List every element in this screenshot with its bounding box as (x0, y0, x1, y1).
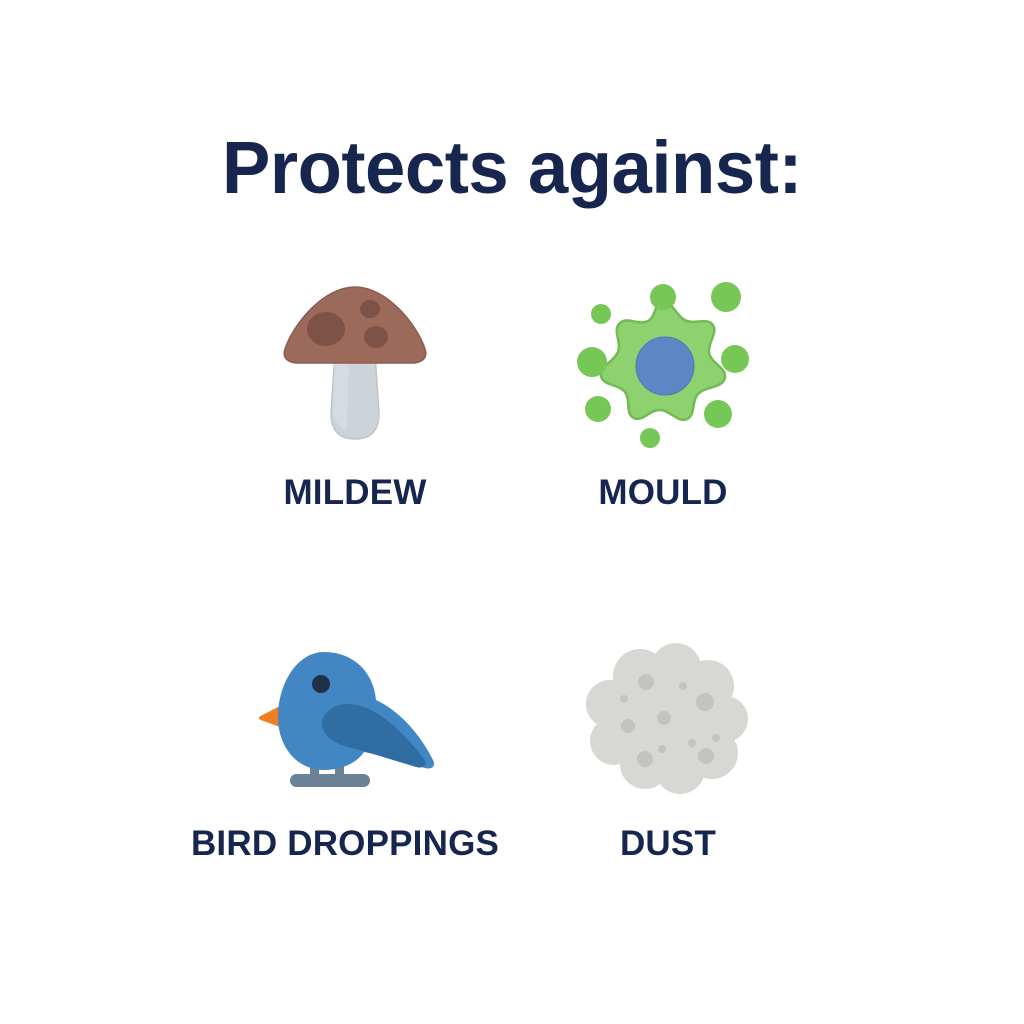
item-label-bird-droppings: BIRD DROPPINGS (191, 826, 499, 861)
page-title: Protects against: (10, 131, 1014, 205)
item-dust: DUST (518, 633, 818, 861)
item-label-mould: MOULD (598, 475, 727, 510)
item-label-dust: DUST (620, 826, 716, 861)
item-mildew: MILDEW (205, 278, 505, 510)
infographic-poster: Protects against: MILDEW (0, 0, 1024, 1024)
item-label-mildew: MILDEW (283, 475, 426, 510)
protection-items-grid: MILDEW (0, 278, 1024, 898)
dust-cloud-icon (573, 633, 763, 808)
bird-icon (250, 633, 440, 808)
mould-spore-icon (568, 278, 758, 453)
mushroom-icon (260, 278, 450, 453)
item-mould: MOULD (513, 278, 813, 510)
item-bird-droppings: BIRD DROPPINGS (195, 633, 495, 861)
